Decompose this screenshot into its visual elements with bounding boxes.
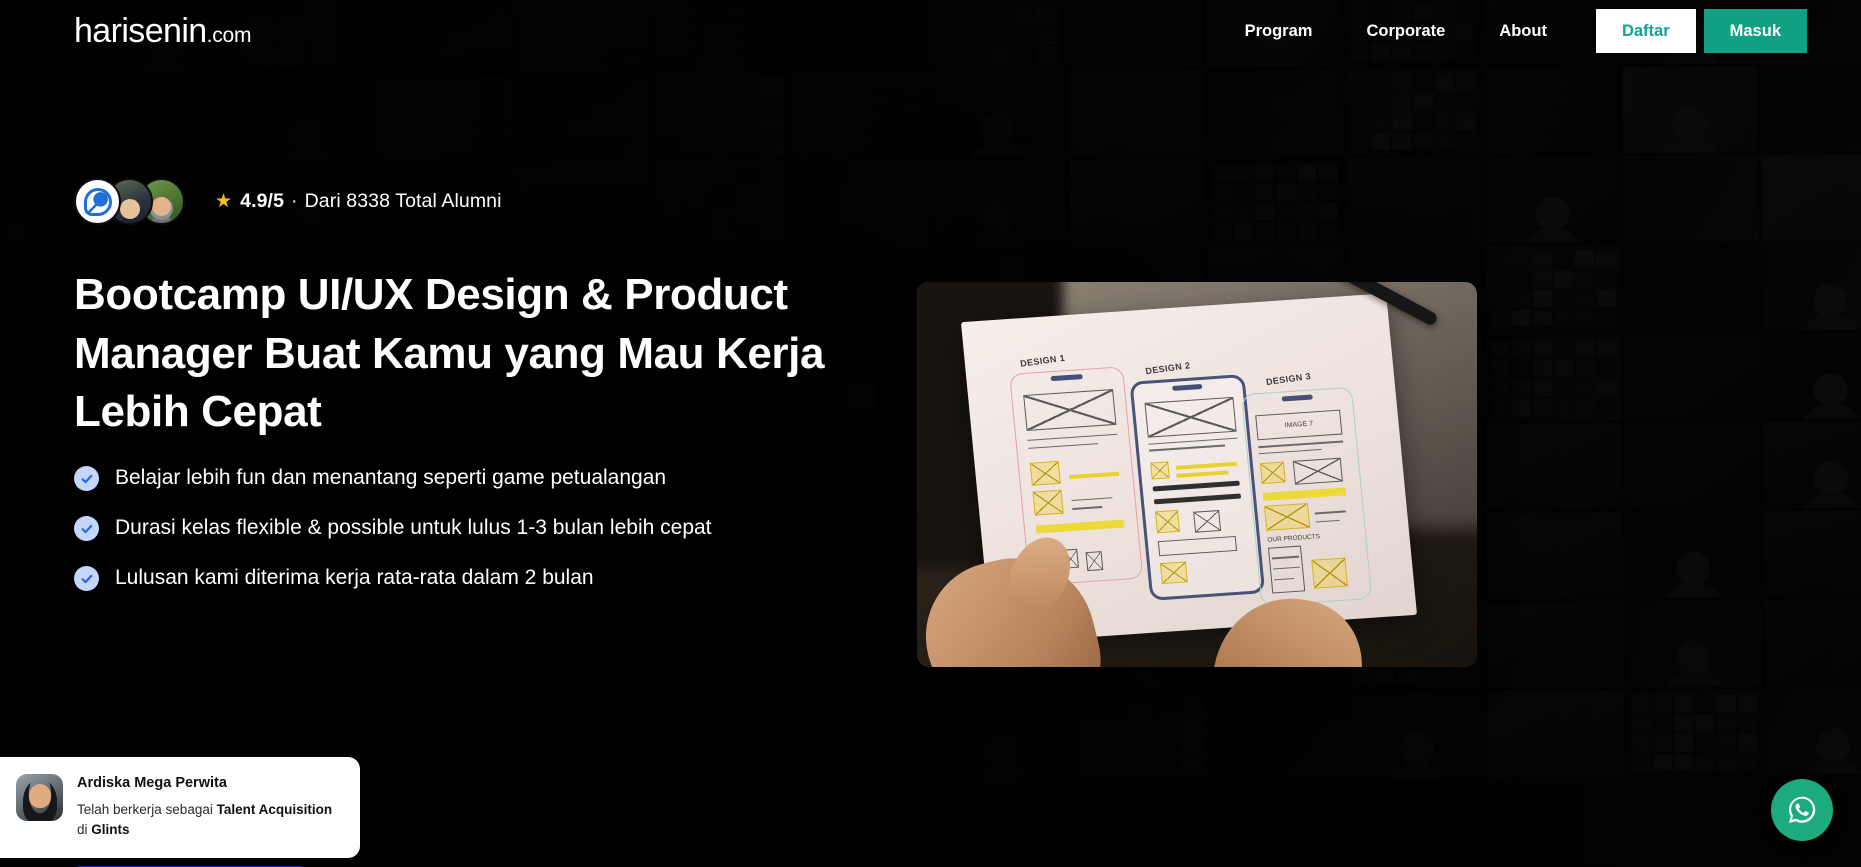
login-button[interactable]: Masuk bbox=[1704, 9, 1807, 54]
nav-link-about[interactable]: About bbox=[1472, 23, 1574, 40]
check-circle-icon bbox=[74, 566, 99, 591]
benefit-text: Durasi kelas flexible & possible untuk l… bbox=[115, 512, 712, 543]
nav-link-corporate[interactable]: Corporate bbox=[1339, 23, 1472, 40]
wireframe-label: OUR PRODUCTS bbox=[1267, 534, 1320, 545]
brand-suffix: .com bbox=[207, 24, 252, 48]
toast-name: Ardiska Mega Perwita bbox=[77, 774, 342, 792]
alumni-count-text: Dari 8338 Total Alumni bbox=[305, 190, 502, 213]
star-icon: ★ bbox=[215, 192, 232, 211]
rating-value: 4.9/5 bbox=[240, 190, 284, 213]
rating-line: ★ 4.9/5 · Dari 8338 Total Alumni bbox=[215, 190, 502, 213]
toast-desc-company: Glints bbox=[91, 822, 129, 837]
list-item: Belajar lebih fun dan menantang seperti … bbox=[74, 462, 864, 493]
benefit-list: Belajar lebih fun dan menantang seperti … bbox=[74, 462, 864, 612]
wireframe-label: DESIGN 1 bbox=[1019, 352, 1065, 368]
toast-desc-role: Talent Acquisition bbox=[217, 802, 333, 817]
hero-photo-wireframe-sketch: DESIGN 1 DESIGN 2 bbox=[917, 282, 1477, 667]
register-button[interactable]: Daftar bbox=[1596, 9, 1696, 54]
alumni-notification-toast[interactable]: Ardiska Mega Perwita Telah berkerja seba… bbox=[0, 757, 360, 858]
brand-logo[interactable]: harisenin .com bbox=[74, 14, 251, 48]
benefit-text: Belajar lebih fun dan menantang seperti … bbox=[115, 462, 666, 493]
list-item: Lulusan kami diterima kerja rata-rata da… bbox=[74, 562, 864, 593]
nav-link-program[interactable]: Program bbox=[1218, 23, 1340, 40]
avatar bbox=[74, 178, 121, 225]
check-circle-icon bbox=[74, 466, 99, 491]
brand-name: harisenin bbox=[74, 14, 207, 48]
page-title: Bootcamp UI/UX Design & Product Manager … bbox=[74, 266, 854, 442]
wireframe-label: DESIGN 3 bbox=[1265, 371, 1311, 387]
list-item: Durasi kelas flexible & possible untuk l… bbox=[74, 512, 864, 543]
whatsapp-icon[interactable] bbox=[1771, 779, 1833, 841]
toast-description: Telah berkerja sebagai Talent Acquisitio… bbox=[77, 800, 342, 841]
toast-body: Ardiska Mega Perwita Telah berkerja seba… bbox=[77, 774, 342, 841]
toast-desc-mid: di bbox=[77, 822, 91, 837]
wireframe-label: DESIGN 2 bbox=[1144, 360, 1190, 376]
benefit-text: Lulusan kami diterima kerja rata-rata da… bbox=[115, 562, 594, 593]
toast-desc-prefix: Telah berkerja sebagai bbox=[77, 802, 217, 817]
hero-section: ★ 4.9/5 · Dari 8338 Total Alumni Bootcam… bbox=[0, 0, 1861, 867]
alumni-avatar-stack bbox=[74, 178, 185, 225]
site-header: harisenin .com Program Corporate About D… bbox=[0, 0, 1861, 62]
wireframe-label: IMAGE 7 bbox=[1284, 420, 1313, 429]
avatar bbox=[16, 774, 63, 821]
social-proof: ★ 4.9/5 · Dari 8338 Total Alumni bbox=[74, 178, 502, 225]
main-nav: Program Corporate About bbox=[1218, 23, 1574, 40]
auth-buttons: Daftar Masuk bbox=[1596, 9, 1807, 54]
check-circle-icon bbox=[74, 516, 99, 541]
rating-separator: · bbox=[291, 190, 298, 213]
wireframe-phone-3: IMAGE 7 OUR PRODUCTS bbox=[1241, 386, 1372, 606]
